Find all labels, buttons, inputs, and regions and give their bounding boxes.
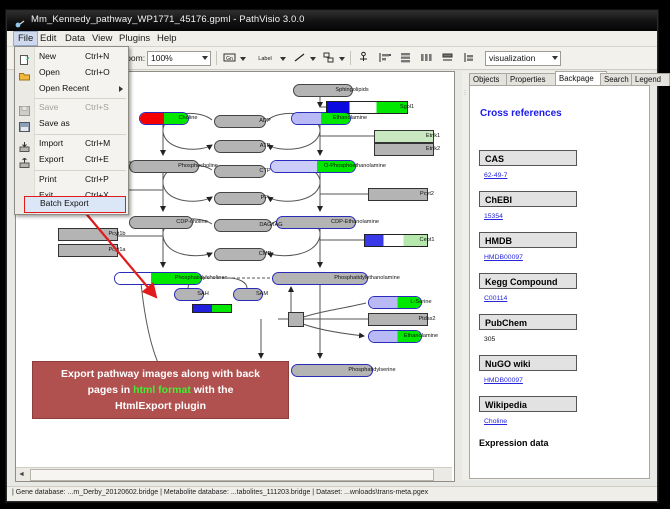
stack-icon[interactable] [440,50,455,65]
menu-item-new-shortcut: Ctrl+N [85,51,109,61]
order-icon[interactable] [461,50,476,65]
menu-item-new[interactable]: New Ctrl+N [15,49,128,65]
xref-label-kegg: Kegg Compound [479,273,577,289]
chevron-down-icon [202,56,208,60]
chevron-down-icon[interactable] [310,57,316,61]
label-icon[interactable]: Label [252,50,278,65]
xref-label-wikipedia: Wikipedia [479,396,577,412]
xref-label-cas: CAS [479,150,577,166]
menu-item-open-recent[interactable]: Open Recent [15,81,128,97]
menu-edit[interactable]: Edit [36,32,60,45]
xref-value-cas[interactable]: 62-49-7 [484,172,507,179]
menu-item-import-shortcut: Ctrl+M [85,138,110,148]
gene-product-icon[interactable]: Gn [222,50,237,65]
backpage-content: Cross references CAS 62-49-7 ChEBI 15354… [469,86,650,479]
menu-item-batch-export-label: Batch Export [40,198,89,208]
menu-file[interactable]: File [13,31,38,46]
cross-references-heading: Cross references [480,108,562,119]
menu-item-print-shortcut: Ctrl+P [85,174,109,184]
new-document-icon [19,52,30,62]
menu-help[interactable]: Help [153,32,181,45]
menu-item-import[interactable]: Import Ctrl+M [15,136,128,152]
zoom-combo[interactable]: 100% [147,51,211,66]
menu-item-open-recent-label: Open Recent [39,83,89,93]
save-disk-icon [19,103,30,113]
menu-item-export-shortcut: Ctrl+E [85,154,109,164]
screenshot-root: Mm_Kennedy_pathway_WP1771_45176.gpml - P… [0,0,670,509]
menu-item-export[interactable]: Export Ctrl+E [15,152,128,168]
menu-item-save-shortcut: Ctrl+S [85,102,109,112]
line-icon[interactable] [292,50,307,65]
callout-line-1: Export pathway images along with back [61,368,260,380]
window-title: Mm_Kennedy_pathway_WP1771_45176.gpml - P… [31,14,305,25]
menu-item-save-as[interactable]: Save as [15,116,128,132]
svg-text:⋮: ⋮ [463,90,468,96]
align-center-icon[interactable] [398,50,413,65]
panel-collapse-handle[interactable]: ⋮ [462,86,468,478]
menu-item-export-label: Export [39,154,64,164]
toolbar-separator [350,51,351,65]
menu-bar: File Edit Data View Plugins Help [7,31,657,47]
xref-value-wikipedia[interactable]: Choline [484,418,507,425]
menu-item-print[interactable]: Print Ctrl+P [15,172,128,188]
callout-line-2a: pages in [88,384,134,396]
xref-value-hmdb[interactable]: HMDB00097 [484,254,523,261]
annotation-callout: Export pathway images along with back pa… [32,361,289,419]
menu-item-print-label: Print [39,174,56,184]
xref-value-chebi[interactable]: 15354 [484,213,503,220]
svg-text:Gn: Gn [226,56,233,62]
annotation-text: Export pathway images along with back pa… [39,366,282,414]
menu-item-save-label: Save [39,102,58,112]
menu-item-new-label: New [39,51,56,61]
menu-separator [35,170,126,171]
status-bar: | Gene database: ...m_Derby_20120602.bri… [7,486,657,501]
callout-line-2c: with the [191,384,234,396]
xref-label-chebi: ChEBI [479,191,577,207]
xref-value-nugo[interactable]: HMDB00097 [484,377,523,384]
menu-plugins[interactable]: Plugins [115,32,154,45]
panel-tabs: Objects Properties Backpage Search Legen… [469,71,650,86]
menu-item-open-shortcut: Ctrl+O [85,67,110,77]
distribute-icon[interactable] [419,50,434,65]
menu-separator [35,98,126,99]
chevron-down-icon[interactable] [280,57,286,61]
scroll-left-arrow-icon[interactable]: ◄ [18,471,25,478]
chevron-down-icon [552,56,558,60]
menu-item-open[interactable]: Open Ctrl+O [15,65,128,81]
scrollbar-thumb[interactable] [30,469,434,481]
import-icon [19,139,30,149]
save-as-icon [19,119,30,129]
status-text: | Gene database: ...m_Derby_20120602.bri… [12,489,428,496]
svg-text:Label: Label [258,56,271,62]
open-folder-icon [19,68,30,78]
menu-view[interactable]: View [88,32,116,45]
interaction-icon[interactable] [321,50,336,65]
canvas-horizontal-scrollbar[interactable]: ◄ [16,467,452,481]
menu-item-open-label: Open [39,67,60,77]
xref-label-pubchem: PubChem [479,314,577,330]
callout-line-3: HtmlExport plugin [115,400,206,412]
menu-item-save-as-label: Save as [39,118,70,128]
pathvisio-icon [15,16,25,26]
anchor-icon[interactable] [356,50,371,65]
export-icon [19,155,30,165]
window-titlebar: Mm_Kennedy_pathway_WP1771_45176.gpml - P… [7,11,657,32]
menu-item-batch-export[interactable]: Batch Export [24,196,126,213]
side-panel: ⋮ Objects Properties Backpage Search Leg… [462,71,650,480]
toolbar-separator [216,51,217,65]
menu-item-save: Save Ctrl+S [15,100,128,116]
align-left-icon[interactable] [377,50,392,65]
xref-label-nugo: NuGO wiki [479,355,577,371]
visualization-value: visualization [489,53,535,63]
xref-value-kegg[interactable]: C00114 [484,295,507,302]
file-menu-popup[interactable]: New Ctrl+N Open Ctrl+O Open Recent Save [14,46,129,215]
chevron-right-icon [119,86,123,92]
xref-label-hmdb: HMDB [479,232,577,248]
menu-item-import-label: Import [39,138,63,148]
pathvisio-window: Mm_Kennedy_pathway_WP1771_45176.gpml - P… [6,10,658,502]
callout-highlight: html format [133,384,191,396]
expression-data-heading: Expression data [479,438,549,448]
chevron-down-icon[interactable] [240,57,246,61]
menu-data[interactable]: Data [61,32,89,45]
zoom-value: 100% [151,53,173,63]
chevron-down-icon[interactable] [339,57,345,61]
xref-value-pubchem: 305 [484,336,495,343]
visualization-combo[interactable]: visualization [485,51,561,66]
menu-separator [35,134,126,135]
